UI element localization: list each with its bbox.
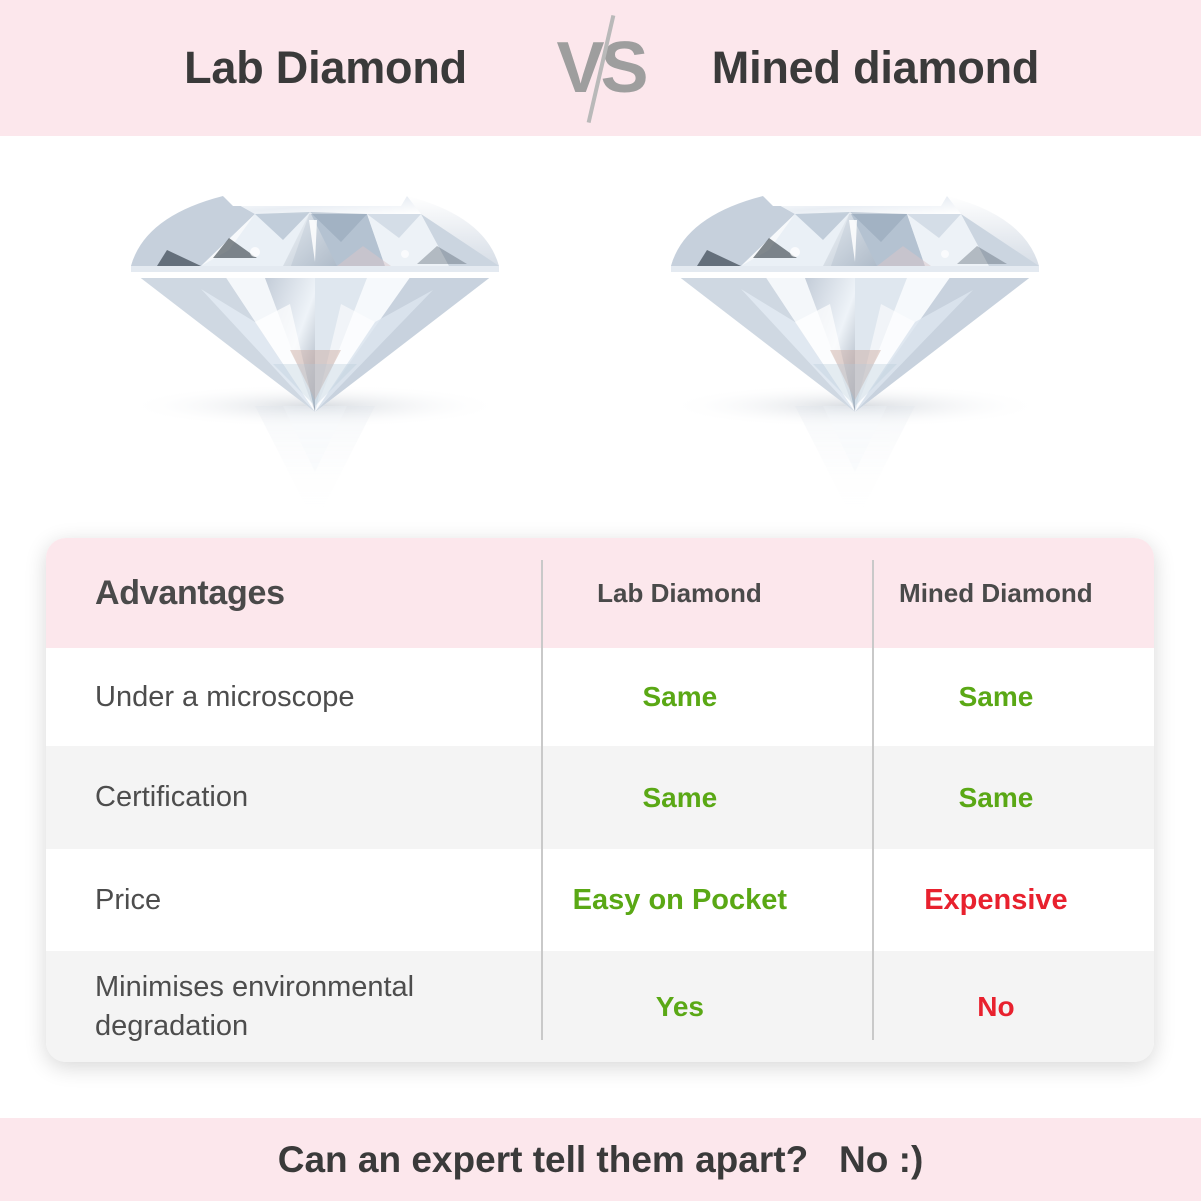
row-value-lab: Same (522, 782, 838, 814)
column-header-lab-diamond: Lab Diamond (521, 578, 837, 609)
footer-question: Can an expert tell them apart? No :) (278, 1139, 924, 1181)
column-divider-1 (541, 560, 543, 1040)
mined-diamond-image (645, 154, 1065, 524)
row-value-mined: Expensive (838, 884, 1154, 917)
table-header-row: Advantages Lab Diamond Mined Diamond (46, 538, 1154, 648)
table-row: Price Easy on Pocket Expensive (46, 849, 1154, 951)
row-value-mined: Same (838, 782, 1154, 814)
footer-banner: Can an expert tell them apart? No :) (0, 1118, 1201, 1201)
comparison-table-card: Advantages Lab Diamond Mined Diamond Und… (46, 538, 1154, 1062)
banner-title-mined: Mined diamond (661, 42, 1091, 94)
vs-badge: VS (541, 0, 661, 136)
row-label: Minimises environmental degradation (46, 968, 522, 1045)
row-value-lab: Same (522, 681, 838, 713)
diamond-icon (105, 154, 525, 524)
row-label: Price (46, 881, 522, 919)
banner-title-lab: Lab Diamond (111, 42, 541, 94)
table-row: Under a microscope Same Same (46, 648, 1154, 746)
table-row: Certification Same Same (46, 746, 1154, 849)
column-header-advantages: Advantages (46, 574, 521, 613)
top-banner: Lab Diamond VS Mined diamond (0, 0, 1201, 136)
diamond-icon (645, 154, 1065, 524)
row-label: Certification (46, 778, 522, 816)
row-value-mined: No (838, 991, 1154, 1023)
column-header-mined-diamond: Mined Diamond (838, 578, 1154, 609)
row-value-mined: Same (838, 681, 1154, 713)
row-label: Under a microscope (46, 678, 522, 716)
column-divider-2 (872, 560, 874, 1040)
row-value-lab: Easy on Pocket (522, 884, 838, 917)
lab-diamond-image (105, 154, 525, 524)
diamond-strip (0, 136, 1201, 536)
row-value-lab: Yes (522, 991, 838, 1023)
table-row: Minimises environmental degradation Yes … (46, 951, 1154, 1062)
